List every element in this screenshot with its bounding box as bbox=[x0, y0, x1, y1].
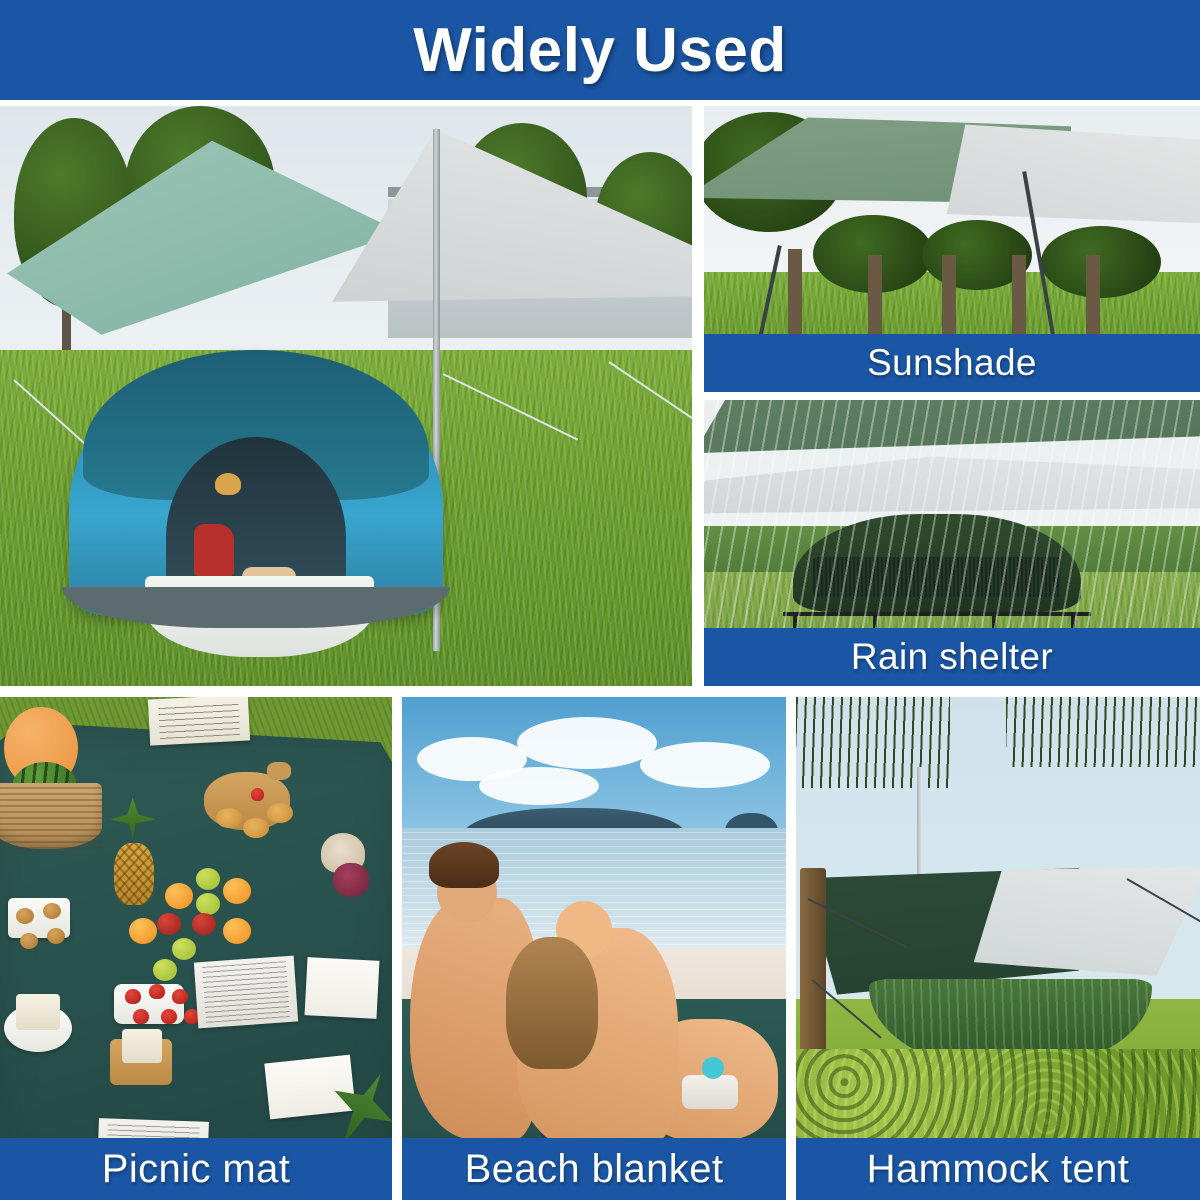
grape-cluster bbox=[333, 863, 369, 897]
willow-branches bbox=[796, 697, 950, 788]
cloud bbox=[517, 717, 657, 769]
tree-trunk bbox=[868, 255, 882, 347]
scene-picnic-mat bbox=[0, 697, 392, 1200]
tree-trunk bbox=[788, 249, 802, 346]
apple bbox=[157, 913, 181, 935]
panel-beach-blanket: Beach blanket bbox=[402, 697, 786, 1200]
bikini-bottom bbox=[682, 1075, 738, 1109]
board-handle bbox=[267, 762, 291, 780]
book bbox=[264, 1055, 355, 1120]
cookie bbox=[16, 908, 34, 924]
person-head bbox=[215, 473, 241, 495]
tree-canopy-icon bbox=[1041, 226, 1161, 298]
tree-trunk bbox=[1012, 255, 1026, 347]
cot-tent-mesh-window bbox=[813, 557, 1061, 597]
page-header: Widely Used bbox=[0, 0, 1200, 100]
note-card bbox=[148, 697, 250, 746]
cloud bbox=[640, 742, 770, 788]
tree-trunk bbox=[1086, 255, 1100, 347]
panel-caption-picnic-mat: Picnic mat bbox=[0, 1138, 392, 1200]
picnic-basket bbox=[0, 783, 102, 849]
panel-picnic-mat: Picnic mat bbox=[0, 697, 392, 1200]
bikini-tie bbox=[702, 1057, 724, 1079]
woman-hair bbox=[506, 937, 598, 1069]
man-hair bbox=[429, 842, 499, 888]
pastry bbox=[216, 808, 242, 828]
pastry bbox=[243, 818, 269, 838]
orange-fruit bbox=[165, 883, 193, 909]
cookie bbox=[20, 933, 38, 949]
panel-rain-shelter: Rain shelter bbox=[704, 400, 1200, 686]
layer-cake bbox=[16, 994, 60, 1030]
cot-frame-rail bbox=[783, 612, 1091, 616]
strawberry bbox=[125, 989, 141, 1004]
willow-branches bbox=[1006, 697, 1200, 767]
panel-main-tent bbox=[0, 106, 692, 686]
scene-beach-blanket bbox=[402, 697, 786, 1200]
strawberry bbox=[161, 1009, 177, 1024]
strawberry bbox=[149, 984, 165, 999]
panel-caption-hammock-tent: Hammock tent bbox=[796, 1138, 1200, 1200]
tree-trunk bbox=[942, 255, 956, 347]
strawberry bbox=[172, 989, 188, 1004]
person-torso bbox=[194, 524, 234, 576]
widely-used-product-collage: Widely Used bbox=[0, 0, 1200, 1200]
magazine bbox=[304, 957, 379, 1019]
pineapple bbox=[114, 843, 154, 905]
green-plum bbox=[153, 959, 177, 981]
strawberry bbox=[251, 788, 264, 801]
scene-main-tent bbox=[0, 106, 692, 686]
panel-grid: Sunshade Rain shelter bbox=[0, 106, 1200, 1200]
pastry bbox=[267, 803, 293, 823]
scene-hammock-tent bbox=[796, 697, 1200, 1200]
panel-caption-sunshade: Sunshade bbox=[704, 334, 1200, 392]
panel-caption-beach-blanket: Beach blanket bbox=[402, 1138, 786, 1200]
panel-caption-rain-shelter: Rain shelter bbox=[704, 628, 1200, 686]
page-title: Widely Used bbox=[413, 15, 787, 86]
newspaper bbox=[194, 955, 298, 1028]
dessert-cup bbox=[122, 1029, 162, 1063]
panel-hammock-tent: Hammock tent bbox=[796, 697, 1200, 1200]
green-plum bbox=[196, 893, 220, 915]
green-plum bbox=[196, 868, 220, 890]
strawberry bbox=[133, 1009, 149, 1024]
panel-sunshade: Sunshade bbox=[704, 106, 1200, 392]
